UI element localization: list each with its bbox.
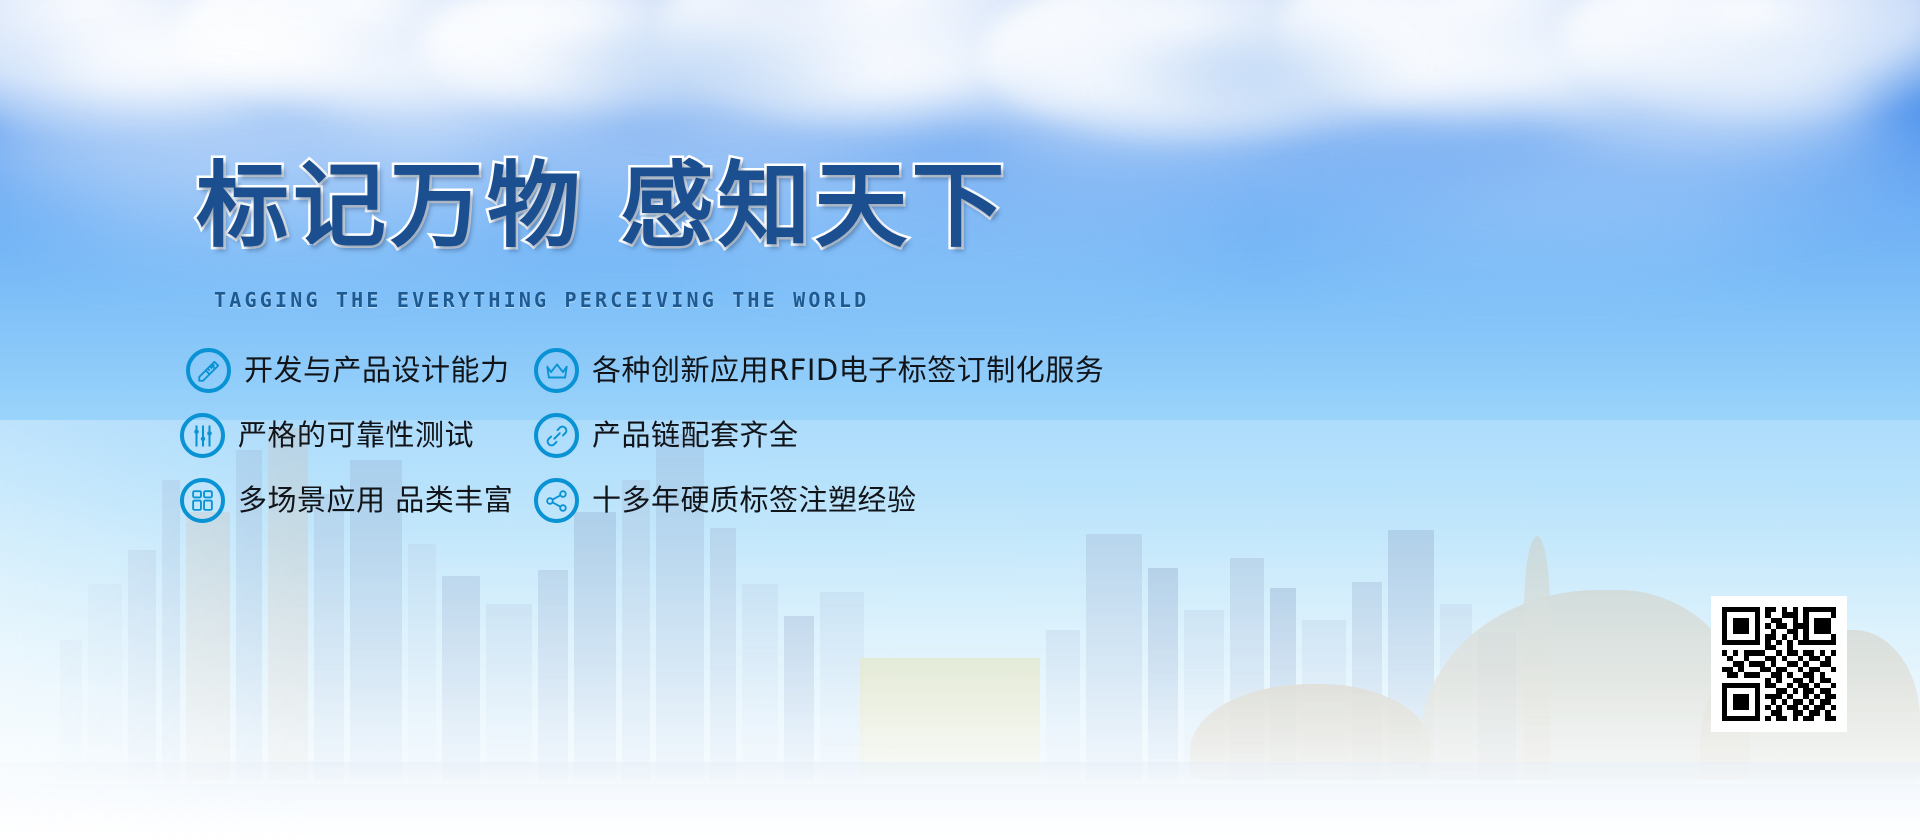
- qr-code-matrix: [1722, 607, 1836, 721]
- feature-list: 开发与产品设计能力 各种创新应用RFID电子标签订制化服务: [186, 348, 1246, 543]
- sliders-icon: [180, 413, 225, 458]
- feature-row: 严格的可靠性测试 产品链配套齐全: [186, 413, 1246, 477]
- feature-label: 产品链配套齐全: [592, 421, 799, 450]
- feature-item-product-chain[interactable]: 产品链配套齐全: [534, 413, 799, 458]
- share-nodes-icon: [534, 478, 579, 523]
- crown-icon: [534, 348, 579, 393]
- qr-code[interactable]: [1711, 596, 1847, 732]
- banner-subtitle: TAGGING THE EVERYTHING PERCEIVING THE WO…: [214, 288, 869, 312]
- ruler-pencil-icon: [186, 348, 231, 393]
- feature-item-design-capability[interactable]: 开发与产品设计能力: [186, 348, 510, 393]
- feature-label: 开发与产品设计能力: [244, 356, 510, 385]
- grid-squares-icon: [180, 478, 225, 523]
- rfid-promo-banner: 标记万物 感知天下 TAGGING THE EVERYTHING PERCEIV…: [0, 0, 1920, 840]
- feature-label: 十多年硬质标签注塑经验: [592, 486, 917, 515]
- feature-item-reliability-testing[interactable]: 严格的可靠性测试: [180, 413, 474, 458]
- feature-label: 各种创新应用RFID电子标签订制化服务: [592, 356, 1104, 385]
- feature-item-rfid-custom-service[interactable]: 各种创新应用RFID电子标签订制化服务: [534, 348, 1104, 393]
- feature-label: 严格的可靠性测试: [238, 421, 474, 450]
- feature-row: 多场景应用 品类丰富 十多年硬质标签注塑经验: [186, 478, 1246, 542]
- feature-item-injection-experience[interactable]: 十多年硬质标签注塑经验: [534, 478, 917, 523]
- feature-label: 多场景应用 品类丰富: [238, 486, 513, 515]
- feature-item-multi-scenario[interactable]: 多场景应用 品类丰富: [180, 478, 513, 523]
- banner-headline: 标记万物 感知天下: [196, 160, 1008, 253]
- chain-link-icon: [534, 413, 579, 458]
- feature-row: 开发与产品设计能力 各种创新应用RFID电子标签订制化服务: [186, 348, 1246, 412]
